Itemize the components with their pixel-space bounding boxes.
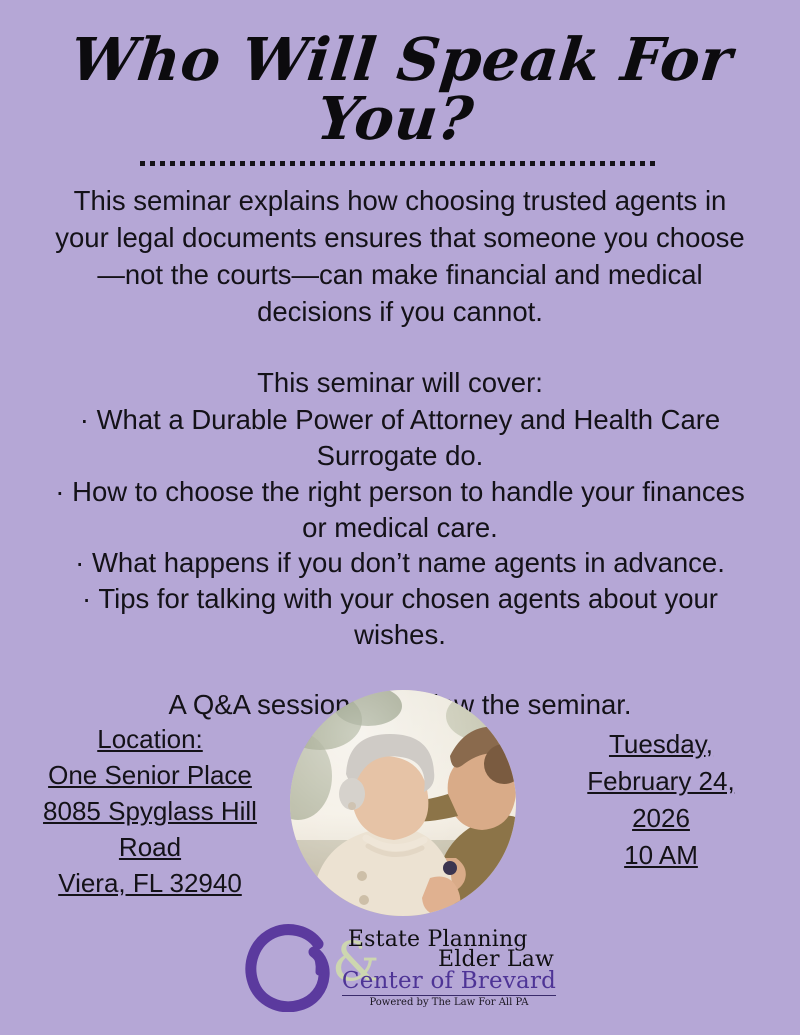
list-item: · Tips for talking with your chosen agen…	[48, 581, 752, 653]
intro-paragraph: This seminar explains how choosing trust…	[48, 182, 752, 331]
logo-tagline: Powered by The Law For All PA	[342, 995, 556, 1008]
event-line: Tuesday,	[609, 729, 713, 759]
location-block: Location: One Senior Place 8085 Spyglass…	[14, 722, 286, 901]
logo-text: & Estate Planning Elder Law Center of Br…	[340, 929, 556, 1008]
event-block: Tuesday, February 24, 2026 10 AM	[536, 726, 786, 874]
cover-block: This seminar will cover: · What a Durabl…	[48, 365, 752, 653]
page-title: Who Will Speak For You?	[0, 0, 800, 148]
logo-inner: & Estate Planning Elder Law Center of Br…	[244, 924, 556, 1012]
seminar-photo	[290, 690, 516, 916]
flyer-page: Who Will Speak For You? This seminar exp…	[0, 0, 800, 1035]
body-content: This seminar explains how choosing trust…	[0, 182, 800, 721]
details-band: Location: One Senior Place 8085 Spyglass…	[0, 690, 800, 920]
event-line: 2026	[632, 803, 690, 833]
location-label: Location:	[97, 724, 203, 754]
location-line: Viera, FL 32940	[58, 868, 242, 898]
event-line: 10 AM	[624, 840, 698, 870]
logo-line-3: Center of Brevard	[342, 970, 556, 993]
list-item: · How to choose the right person to hand…	[48, 474, 752, 546]
event-line: February 24,	[587, 766, 734, 796]
dotted-divider	[140, 161, 660, 166]
enso-circle-icon	[244, 924, 336, 1012]
cover-heading: This seminar will cover:	[48, 365, 752, 401]
location-line: 8085 Spyglass Hill Road	[43, 796, 257, 862]
photo-illustration	[290, 690, 516, 916]
firm-logo: & Estate Planning Elder Law Center of Br…	[0, 918, 800, 1018]
list-item: · What happens if you don’t name agents …	[48, 545, 752, 581]
list-item: · What a Durable Power of Attorney and H…	[48, 402, 752, 474]
location-line: One Senior Place	[48, 760, 252, 790]
